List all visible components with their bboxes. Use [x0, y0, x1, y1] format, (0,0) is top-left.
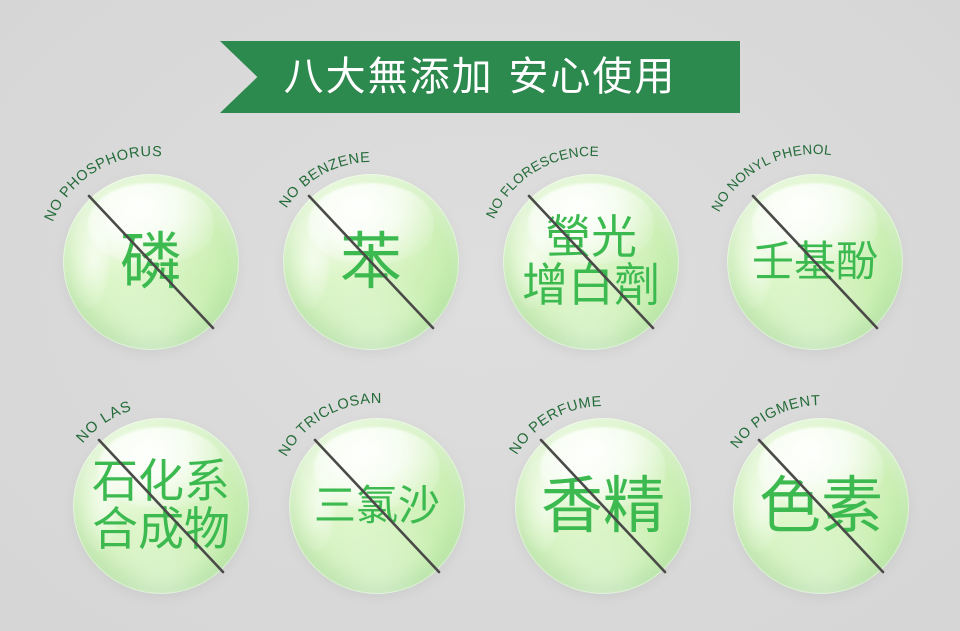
sphere-rim: [63, 174, 239, 350]
badge-perfume[interactable]: 香精NO PERFUME: [488, 368, 714, 604]
sphere-phosphorus: [63, 174, 239, 350]
sphere-triclosan: [289, 418, 465, 594]
badge-triclosan[interactable]: 三氯沙NO TRICLOSAN: [262, 368, 488, 604]
badge-florescence[interactable]: 螢光增白劑NO FLORESCENCE: [476, 124, 702, 360]
sphere-pigment: [733, 418, 909, 594]
banner-container: 八大無添加 安心使用: [0, 40, 960, 114]
sphere-las: [73, 418, 249, 594]
sphere-rim: [515, 418, 691, 594]
badge-grid: 磷NO PHOSPHORUS苯NO BENZENE螢光增白劑NO FLORESC…: [0, 118, 960, 618]
sphere-perfume: [515, 418, 691, 594]
badge-nonyl-phenol[interactable]: 壬基酚NO NONYL PHENOL: [700, 124, 926, 360]
sphere-benzene: [283, 174, 459, 350]
sphere-rim: [727, 174, 903, 350]
sphere-rim: [733, 418, 909, 594]
sphere-rim: [289, 418, 465, 594]
sphere-nonyl-phenol: [727, 174, 903, 350]
sphere-rim: [73, 418, 249, 594]
sphere-rim: [283, 174, 459, 350]
banner-title: 八大無添加 安心使用: [284, 57, 677, 97]
badge-benzene[interactable]: 苯NO BENZENE: [256, 124, 482, 360]
ribbon-banner: 八大無添加 安心使用: [220, 41, 740, 113]
badge-pigment[interactable]: 色素NO PIGMENT: [706, 368, 932, 604]
badge-las[interactable]: 石化系合成物NO LAS: [46, 368, 272, 604]
sphere-florescence: [503, 174, 679, 350]
sphere-rim: [503, 174, 679, 350]
badge-phosphorus[interactable]: 磷NO PHOSPHORUS: [36, 124, 262, 360]
